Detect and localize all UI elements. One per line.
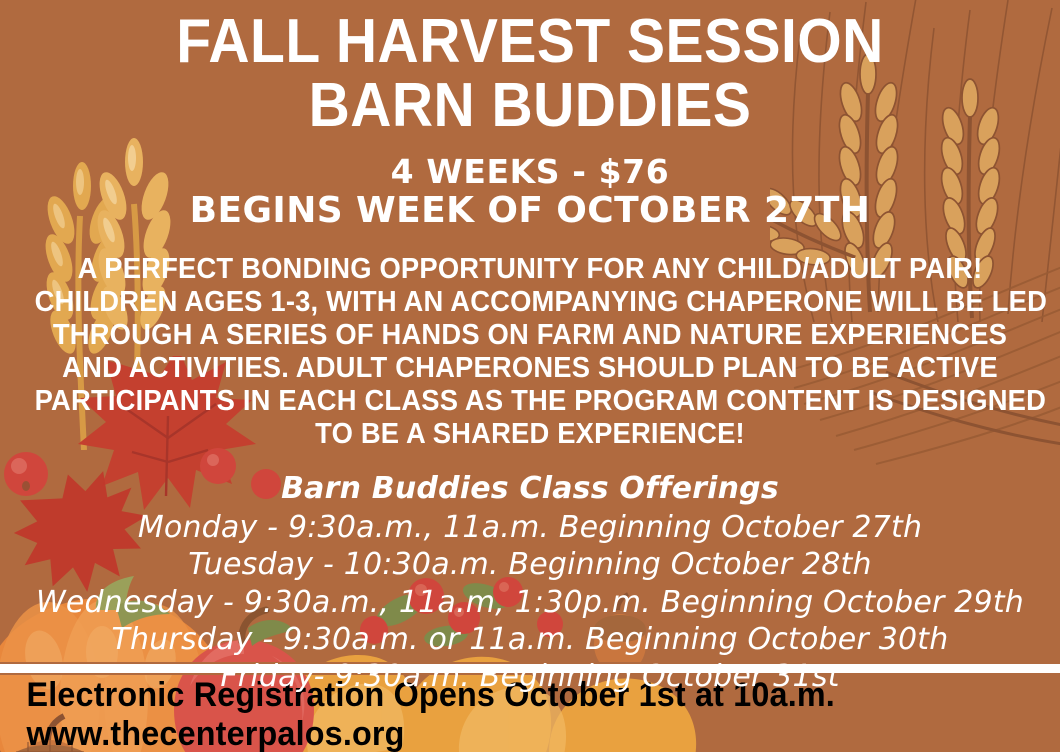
description-line: TO BE A SHARED EXPERIENCE! (35, 418, 1026, 451)
schedule-item-tuesday: Tuesday - 10:30a.m. Beginning October 28… (0, 546, 1060, 583)
description-line: CHILDREN AGES 1-3, WITH AN ACCOMPANYING … (35, 286, 1026, 319)
schedule-item-thursday: Thursday - 9:30a.m. or 11a.m. Beginning … (0, 621, 1060, 658)
title-block: FALL HARVEST SESSION BARN BUDDIES (0, 0, 1060, 138)
title-line-1: FALL HARVEST SESSION (42, 10, 1017, 74)
offerings-heading: Barn Buddies Class Offerings (0, 471, 1060, 506)
schedule-item-wednesday: Wednesday - 9:30a.m., 11a.m, 1:30p.m. Be… (0, 584, 1060, 621)
title-line-2: BARN BUDDIES (42, 74, 1017, 138)
description-line: A PERFECT BONDING OPPORTUNITY FOR ANY CH… (35, 253, 1026, 286)
price-duration-line: 4 WEEKS - $76 (0, 154, 1060, 191)
subtitle-block: 4 WEEKS - $76 BEGINS WEEK OF OCTOBER 27T… (0, 154, 1060, 231)
description-line: PARTICIPANTS IN EACH CLASS AS THE PROGRA… (35, 385, 1026, 418)
schedule-item-monday: Monday - 9:30a.m., 11a.m. Beginning Octo… (0, 509, 1060, 546)
description-line: THROUGH A SERIES OF HANDS ON FARM AND NA… (35, 319, 1026, 352)
schedule-item-friday: Friday- 9:30a.m. Beginning October 31st (0, 658, 1060, 695)
description-block: A PERFECT BONDING OPPORTUNITY FOR ANY CH… (0, 253, 1060, 450)
class-schedule-list: Monday - 9:30a.m., 11a.m. Beginning Octo… (0, 509, 1060, 694)
flyer-poster: FALL HARVEST SESSION BARN BUDDIES 4 WEEK… (0, 0, 1060, 752)
description-line: AND ACTIVITIES. ADULT CHAPERONES SHOULD … (35, 352, 1026, 385)
flyer-content: FALL HARVEST SESSION BARN BUDDIES 4 WEEK… (0, 0, 1060, 752)
start-date-line: BEGINS WEEK OF OCTOBER 27TH (0, 191, 1060, 231)
